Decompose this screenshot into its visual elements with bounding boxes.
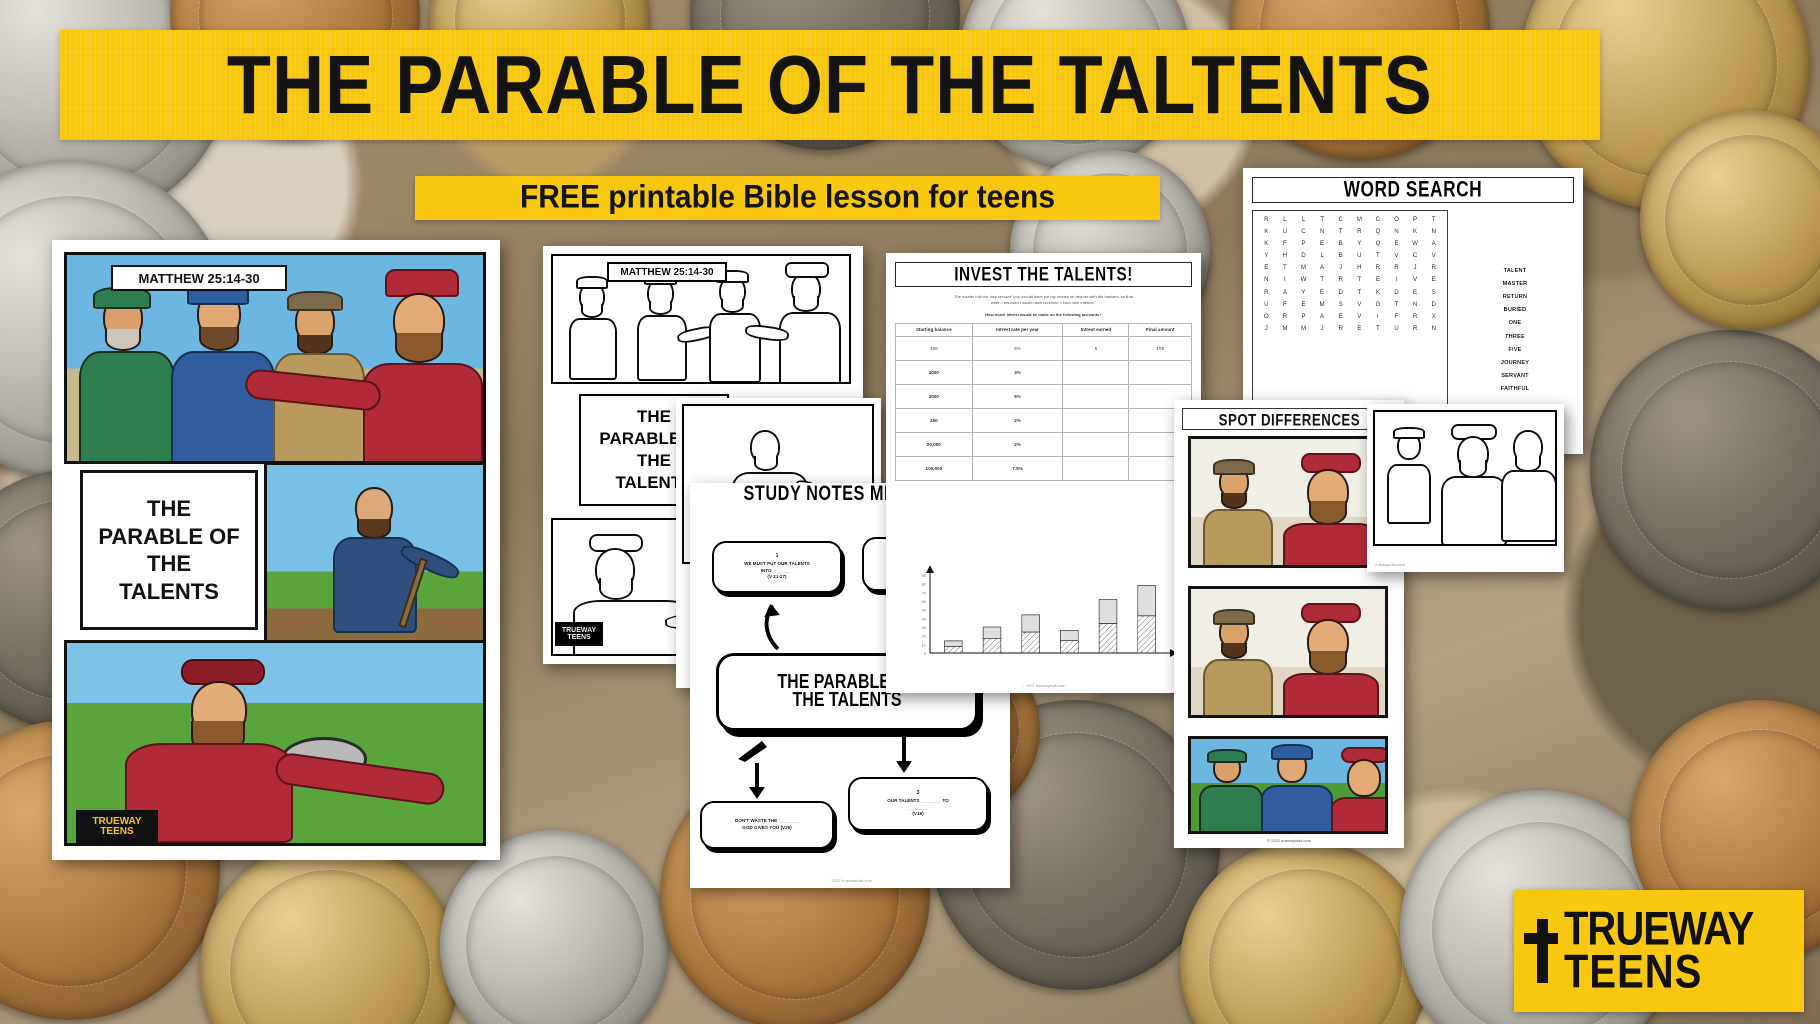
chart-bar [983,627,1001,653]
word-search-cell[interactable]: P [1294,240,1313,247]
printable-sheet-invest[interactable]: INVEST THE TALENTS! The master told the … [886,253,1201,693]
word-search-cell[interactable]: I [1369,313,1388,320]
word-search-cell[interactable]: M [1313,301,1332,308]
word-search-cell[interactable]: U [1276,228,1295,235]
word-search-cell[interactable]: R [1406,325,1425,332]
subtitle-banner: FREE printable Bible lesson for teens [415,176,1160,220]
invest-table-row: 10003% [896,360,1192,384]
word-search-cell[interactable]: A [1276,289,1295,296]
invest-cell-rate[interactable]: 5% [972,336,1063,360]
spot-panel-bottom [1188,586,1388,718]
brand-name-line-2: TEENS [1564,951,1753,994]
invest-header-row: Starting balance Intrest rate per year I… [896,323,1192,336]
spot-differences-title: SPOT DIFFERENCES [1218,409,1360,429]
invest-cell-balance[interactable]: 250 [896,408,973,432]
word-search-cell[interactable]: Y [1294,289,1313,296]
word-search-cell[interactable]: L [1313,252,1332,259]
word-search-cell[interactable]: O [1257,313,1276,320]
invest-cell-earned[interactable] [1063,408,1129,432]
invest-title: INVEST THE TALENTS! [954,263,1133,285]
pencil-icon [736,737,770,763]
chart-y-ticks: 9080706050403020100 [922,573,927,656]
invest-cell-final[interactable] [1129,360,1192,384]
bubble-4-line-2: GOD GIVES YOU (V26) [742,825,791,832]
brand-logo[interactable]: TRUEWAY TEENS [1514,890,1804,1012]
word-search-cell[interactable]: A [1313,264,1332,271]
chart-bar [1022,615,1040,653]
word-search-cell[interactable]: K [1406,228,1425,235]
word-search-cell[interactable]: R [1387,264,1406,271]
comic-verse-reference: MATTHEW 25:14-30 [111,265,287,291]
invest-copyright: © 2022 truewaykids.com [1022,683,1066,688]
word-search-cell[interactable]: E [1313,240,1332,247]
word-search-cell[interactable]: D [1331,289,1350,296]
word-search-cell[interactable]: E [1313,289,1332,296]
mini-logo: TRUEWAY TEENS [555,622,603,646]
word-search-cell[interactable]: J [1406,264,1425,271]
word-search-cell[interactable]: X [1424,313,1443,320]
word-search-cell[interactable]: N [1313,228,1332,235]
word-search-cell[interactable]: S [1424,289,1443,296]
invest-table: Starting balance Intrest rate per year I… [895,323,1192,481]
word-search-cell[interactable]: E [1369,276,1388,283]
comic-mini-logo: TRUEWAY TEENS [76,810,158,844]
mindmap-bubble-1: 1 WE MUST PUT OUR TALENTS INTO ________ … [712,541,842,593]
word-search-cell[interactable]: J [1331,264,1350,271]
comic-title-card: THE PARABLE OF THE TALENTS [80,470,258,630]
word-search-cell[interactable]: R [1369,264,1388,271]
word-search-cell[interactable]: M [1350,216,1369,223]
word-search-cell[interactable]: M [1294,264,1313,271]
word-search-cell[interactable]: E [1350,325,1369,332]
word-search-cell[interactable]: R [1424,264,1443,271]
word-search-cell[interactable]: J [1257,325,1276,332]
invest-title-box: INVEST THE TALENTS! [895,262,1192,287]
invest-cell-earned[interactable] [1063,384,1129,408]
mindmap-bubble-4: DON'T WASTE THE ________ GOD GIVES YOU (… [700,801,834,849]
invest-intro: The master told the lazy servant "you sh… [895,294,1192,306]
chart-y-tick-label: 50 [922,608,927,613]
word-search-cell[interactable]: B [1331,252,1350,259]
word-search-word: SERVANT [1501,373,1529,379]
invest-cell-balance[interactable]: 1000 [896,360,973,384]
word-search-word: FAITHFUL [1501,386,1530,392]
word-search-word: BURIED [1504,307,1527,313]
arrow-icon [756,595,796,651]
chart-y-tick-label: 90 [922,573,927,578]
word-search-cell[interactable]: N [1406,301,1425,308]
word-search-title: WORD SEARCH [1344,177,1483,203]
word-search-cell[interactable]: D [1424,301,1443,308]
invest-bar-chart: 9080706050403020100 [900,565,1178,665]
word-search-cell[interactable]: W [1406,240,1425,247]
word-search-cell[interactable]: E [1257,264,1276,271]
invest-cell-earned[interactable] [1063,456,1129,480]
word-search-cell[interactable]: E [1387,240,1406,247]
chart-y-tick-label: 20 [922,634,927,639]
word-search-cell[interactable]: R [1257,289,1276,296]
printable-sheet-bw-right[interactable]: truewaykids.com [1367,404,1564,572]
word-search-cell[interactable]: T [1387,301,1406,308]
invest-table-row: 2502% [896,408,1192,432]
word-search-cell[interactable]: E [1294,301,1313,308]
chart-bar [944,641,962,653]
bw-right-panel [1373,410,1557,546]
invest-col-earned: Intrest earned [1063,323,1129,336]
invest-inner: INVEST THE TALENTS! The master told the … [886,253,1201,693]
word-search-cell[interactable]: M [1276,325,1295,332]
word-search-cell[interactable]: Q [1369,240,1388,247]
word-search-cell[interactable]: L [1276,216,1295,223]
chart-bar [1138,585,1156,653]
bubble-1-line-2: INTO ________ [761,568,794,575]
arrow-icon [740,761,774,801]
chart-y-tick-label: 30 [922,625,927,630]
cross-icon [1524,919,1558,983]
word-search-cell[interactable]: N [1424,325,1443,332]
bubble-3-line-3: (V19) [912,811,923,818]
comic-title-line-3: THE [147,550,191,578]
bubble-3-line-2: ________ [908,805,928,812]
word-search-cell[interactable]: Y [1257,252,1276,259]
word-search-cell[interactable]: V [1350,301,1369,308]
comic-mini-logo-line-2: TEENS [100,827,133,837]
word-search-cell[interactable]: N [1257,276,1276,283]
bubble-3-line-1: OUR TALENTS ________ TO [887,798,949,805]
brand-wordmark: TRUEWAY TEENS [1564,911,1753,991]
word-search-cell[interactable]: M [1294,325,1313,332]
invest-cell-rate[interactable]: 5% [972,384,1063,408]
invest-cell-rate[interactable]: 3% [972,360,1063,384]
word-search-cell[interactable]: H [1276,252,1295,259]
chart-bars [944,585,1155,653]
invest-cell-final[interactable]: 105 [1129,336,1192,360]
bw-verse-reference: MATTHEW 25:14-30 [607,262,727,282]
word-search-cell[interactable]: R [1331,276,1350,283]
word-search-cell[interactable]: K [1369,289,1388,296]
word-search-cell[interactable]: R [1406,313,1425,320]
word-search-word: ONE [1509,320,1522,326]
invest-cell-balance[interactable]: 100,000 [896,456,973,480]
spot-title-box: SPOT DIFFERENCES [1182,408,1396,430]
mini-logo-line-1: TRUEWAY [562,627,596,634]
color-comic-inner: MATTHEW 25:14-30 THE PARABLE OF THE TALE… [52,240,500,860]
word-search-cell[interactable]: G [1369,301,1388,308]
chart-y-tick-label: 40 [922,616,927,621]
word-search-cell[interactable]: T [1369,325,1388,332]
invest-table-body: 1005%510510003%20005%2502%20,0002%100,00… [896,336,1192,480]
word-search-cell[interactable]: N [1424,228,1443,235]
page-title: THE PARABLE OF THE TALTENTS [227,37,1433,132]
invest-question: How much intrest would be made on the fo… [895,312,1192,317]
word-search-cell[interactable]: R [1331,325,1350,332]
spot-panel-top [1188,436,1388,568]
word-search-cell[interactable]: J [1313,325,1332,332]
word-search-cell[interactable]: T [1350,289,1369,296]
word-search-cell[interactable]: T [1331,228,1350,235]
word-search-cell[interactable]: U [1350,252,1369,259]
comic-title-line-1: THE [147,495,191,523]
word-search-cell[interactable]: V [1406,276,1425,283]
word-search-cell[interactable]: F [1387,313,1406,320]
spot-copyright: © 2022 truewaykids.com [1267,838,1311,843]
mindmap-bubble-3: 3 OUR TALENTS ________ TO ________ (V19) [848,777,988,831]
word-search-cell[interactable]: R [1276,313,1295,320]
word-search-cell[interactable]: B [1331,240,1350,247]
invest-col-rate: Intrest rate per year [972,323,1063,336]
word-search-cell[interactable]: T [1369,252,1388,259]
word-search-cell[interactable]: C [1331,216,1350,223]
chart-y-tick-label: 80 [922,582,927,587]
chart-y-tick-label: 60 [922,599,927,604]
invest-col-balance: Starting balance [896,323,973,336]
invest-cell-rate[interactable]: 2% [972,408,1063,432]
invest-cell-balance[interactable]: 100 [896,336,973,360]
word-search-cell[interactable]: F [1276,301,1295,308]
word-search-cell[interactable]: Y [1350,240,1369,247]
word-search-cell[interactable]: V [1387,252,1406,259]
comic-panel-mid-right [264,462,486,652]
word-search-cell[interactable]: C [1294,228,1313,235]
word-search-cell[interactable]: R [1350,228,1369,235]
bw-title-line-1: THE [637,406,671,428]
word-search-cell[interactable]: H [1350,264,1369,271]
invest-cell-earned[interactable]: 5 [1063,336,1129,360]
word-search-cell[interactable]: T [1350,276,1369,283]
word-search-cell[interactable]: U [1387,325,1406,332]
chart-y-tick-label: 0 [924,651,927,656]
invest-cell-balance[interactable]: 20,000 [896,432,973,456]
bw-right-inner: truewaykids.com [1367,404,1564,572]
word-search-cell[interactable]: T [1313,276,1332,283]
word-search-cell[interactable]: E [1331,313,1350,320]
bubble-1-number: 1 [776,553,779,559]
chart-y-tick-label: 10 [922,642,927,647]
chart-bar [1060,630,1078,653]
word-search-cell[interactable]: E [1424,276,1443,283]
bubble-3-number: 3 [917,790,920,796]
word-search-cell[interactable]: D [1294,252,1313,259]
invest-intro-line-2: when I returned I would have received it… [895,300,1192,306]
word-search-cell[interactable]: T [1424,216,1443,223]
printable-sheet-color-comic[interactable]: MATTHEW 25:14-30 THE PARABLE OF THE TALE… [52,240,500,860]
bw-right-copyright: truewaykids.com [1375,562,1405,567]
word-search-word: FIVE [1508,347,1521,353]
comic-panel-top: MATTHEW 25:14-30 [64,252,486,464]
invest-table-row: 1005%5105 [896,336,1192,360]
invest-cell-rate[interactable]: 2% [972,432,1063,456]
arrow-icon [886,733,922,775]
word-search-word: MASTER [1503,281,1528,287]
word-search-cell[interactable]: D [1387,289,1406,296]
word-search-cell[interactable]: V [1350,313,1369,320]
chart-bar [1099,599,1117,653]
title-banner: THE PARABLE OF THE TALTENTS [60,30,1600,140]
spot-panel-third [1188,736,1388,834]
word-search-grid[interactable]: RLLTCMCOPTKUCNTRQNKNKFPEBYQEWAYHDLBUTVCV… [1257,216,1443,332]
word-search-word: THREE [1505,334,1525,340]
word-search-cell[interactable]: C [1406,252,1425,259]
word-search-cell[interactable]: I [1276,276,1295,283]
word-search-cell[interactable]: I [1387,276,1406,283]
word-search-cell[interactable]: A [1424,240,1443,247]
word-search-cell[interactable]: P [1406,216,1425,223]
mini-logo-line-2: TEENS [567,634,590,641]
word-search-cell[interactable]: A [1313,313,1332,320]
word-search-cell[interactable]: C [1369,216,1388,223]
bw-title-line-3: THE [637,450,671,472]
word-search-cell[interactable]: E [1406,289,1425,296]
invest-table-head: Starting balance Intrest rate per year I… [896,323,1192,336]
word-search-word: RETURN [1503,294,1528,300]
word-search-title-box: WORD SEARCH [1252,177,1574,203]
word-search-cell[interactable]: U [1257,301,1276,308]
invest-cell-earned[interactable] [1063,432,1129,456]
word-search-cell[interactable]: V [1424,252,1443,259]
invest-cell-balance[interactable]: 2000 [896,384,973,408]
word-search-word: TALENT [1504,268,1527,274]
word-search-cell[interactable]: Q [1369,228,1388,235]
word-search-cell[interactable]: K [1257,228,1276,235]
word-search-cell[interactable]: P [1294,313,1313,320]
comic-title-line-2: PARABLE OF [98,523,239,551]
study-notes-copyright: © 2022 truewaykids.com [828,878,872,883]
bubble-1-line-3: (V 21-27) [767,574,786,581]
word-search-cell[interactable]: F [1276,240,1295,247]
word-search-cell[interactable]: W [1294,276,1313,283]
word-search-cell[interactable]: N [1387,228,1406,235]
word-search-cell[interactable]: O [1387,216,1406,223]
invest-col-final: Final amount [1129,323,1192,336]
word-search-cell[interactable]: T [1276,264,1295,271]
bubble-4-line-1: DON'T WASTE THE ________ [735,818,799,825]
word-search-cell[interactable]: K [1257,240,1276,247]
invest-cell-rate[interactable]: 7.5% [972,456,1063,480]
invest-table-row: 100,0007.5% [896,456,1192,480]
invest-cell-earned[interactable] [1063,360,1129,384]
word-search-word: JOURNEY [1501,360,1529,366]
invest-table-row: 20005% [896,384,1192,408]
comic-title-line-4: TALENTS [119,578,219,606]
chart-y-tick-label: 70 [922,590,927,595]
brand-name-line-1: TRUEWAY [1564,908,1753,951]
word-search-cell[interactable]: T [1313,216,1332,223]
word-search-cell[interactable]: L [1294,216,1313,223]
mindmap-center-line-2: THE TALENTS [792,690,901,713]
word-search-cell[interactable]: S [1331,301,1350,308]
invest-table-row: 20,0002% [896,432,1192,456]
page-subtitle: FREE printable Bible lesson for teens [520,180,1055,217]
bubble-1-line-1: WE MUST PUT OUR TALENTS [744,561,810,568]
word-search-cell[interactable]: R [1257,216,1276,223]
